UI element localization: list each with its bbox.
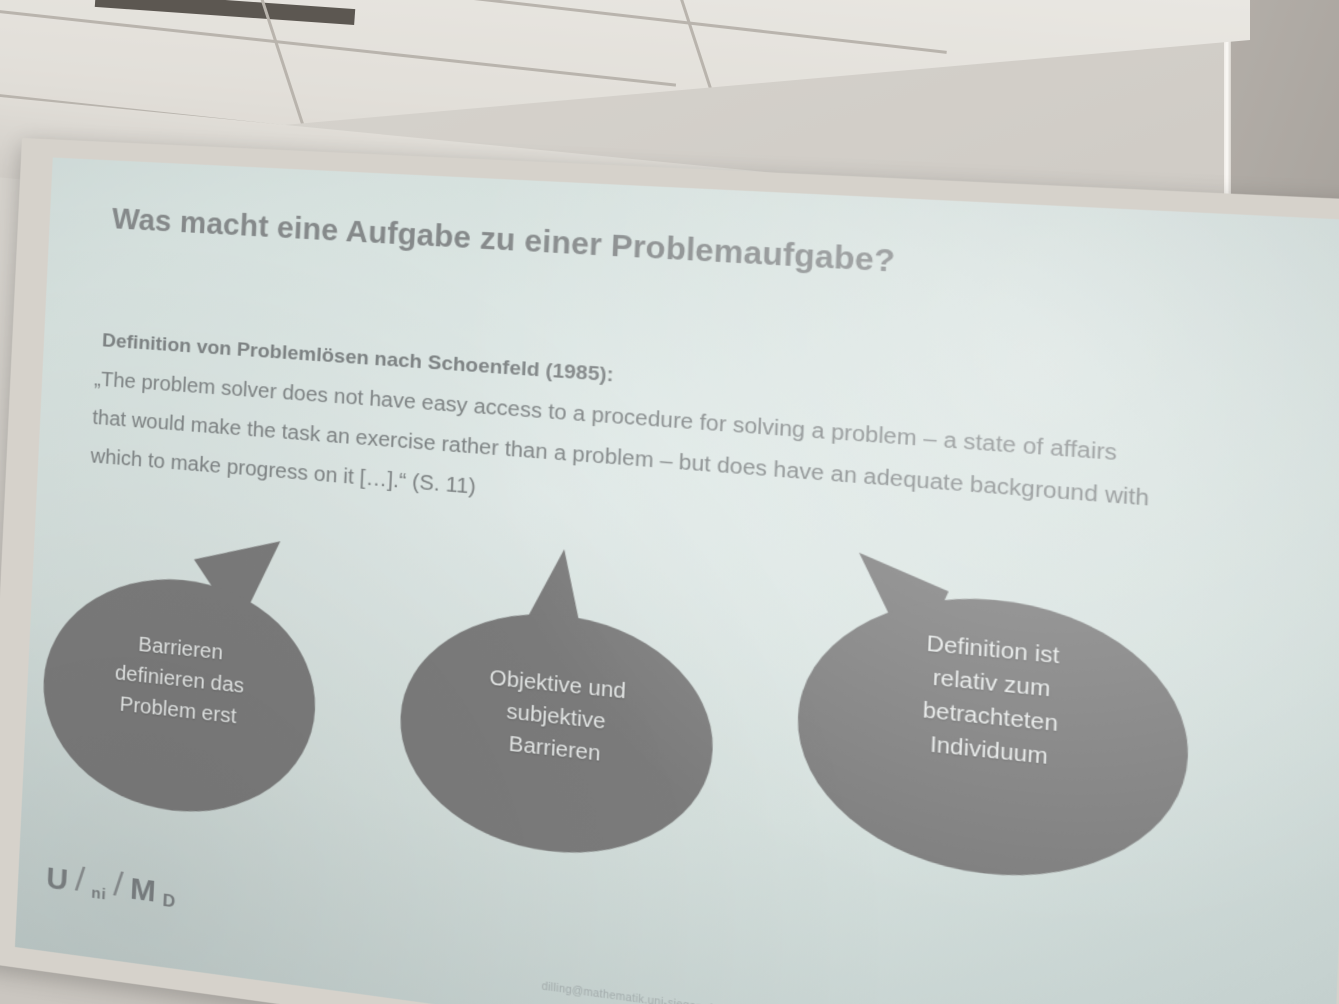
- logo-part-ni: ni: [91, 884, 107, 903]
- projection-screen-frame: Was macht eine Aufgabe zu einer Problema…: [0, 138, 1339, 1004]
- logo-part-u: U: [45, 861, 69, 899]
- speech-bubble-group: Barrieren definieren das Problem erst: [15, 158, 1339, 1004]
- screenshot-stage: Was macht eine Aufgabe zu einer Problema…: [0, 0, 1339, 1004]
- speech-bubble-objektive-subjektive: Objektive und subjektive Barrieren: [387, 531, 734, 865]
- logo-part-d: D: [162, 890, 177, 912]
- projection-screen-area: Was macht eine Aufgabe zu einer Problema…: [0, 0, 1339, 1004]
- speech-bubble-barrieren: Barrieren definieren das Problem erst: [30, 510, 352, 830]
- projection-screen-surface: Was macht eine Aufgabe zu einer Problema…: [15, 158, 1339, 1004]
- presentation-slide: Was macht eine Aufgabe zu einer Problema…: [15, 158, 1339, 1004]
- speech-bubble-definition-relativ: Definition ist relativ zum betrachteten …: [778, 540, 1205, 918]
- logo-slash-1: /: [74, 860, 86, 901]
- logo-slash-2: /: [113, 864, 126, 905]
- logo-part-m: M: [129, 872, 157, 910]
